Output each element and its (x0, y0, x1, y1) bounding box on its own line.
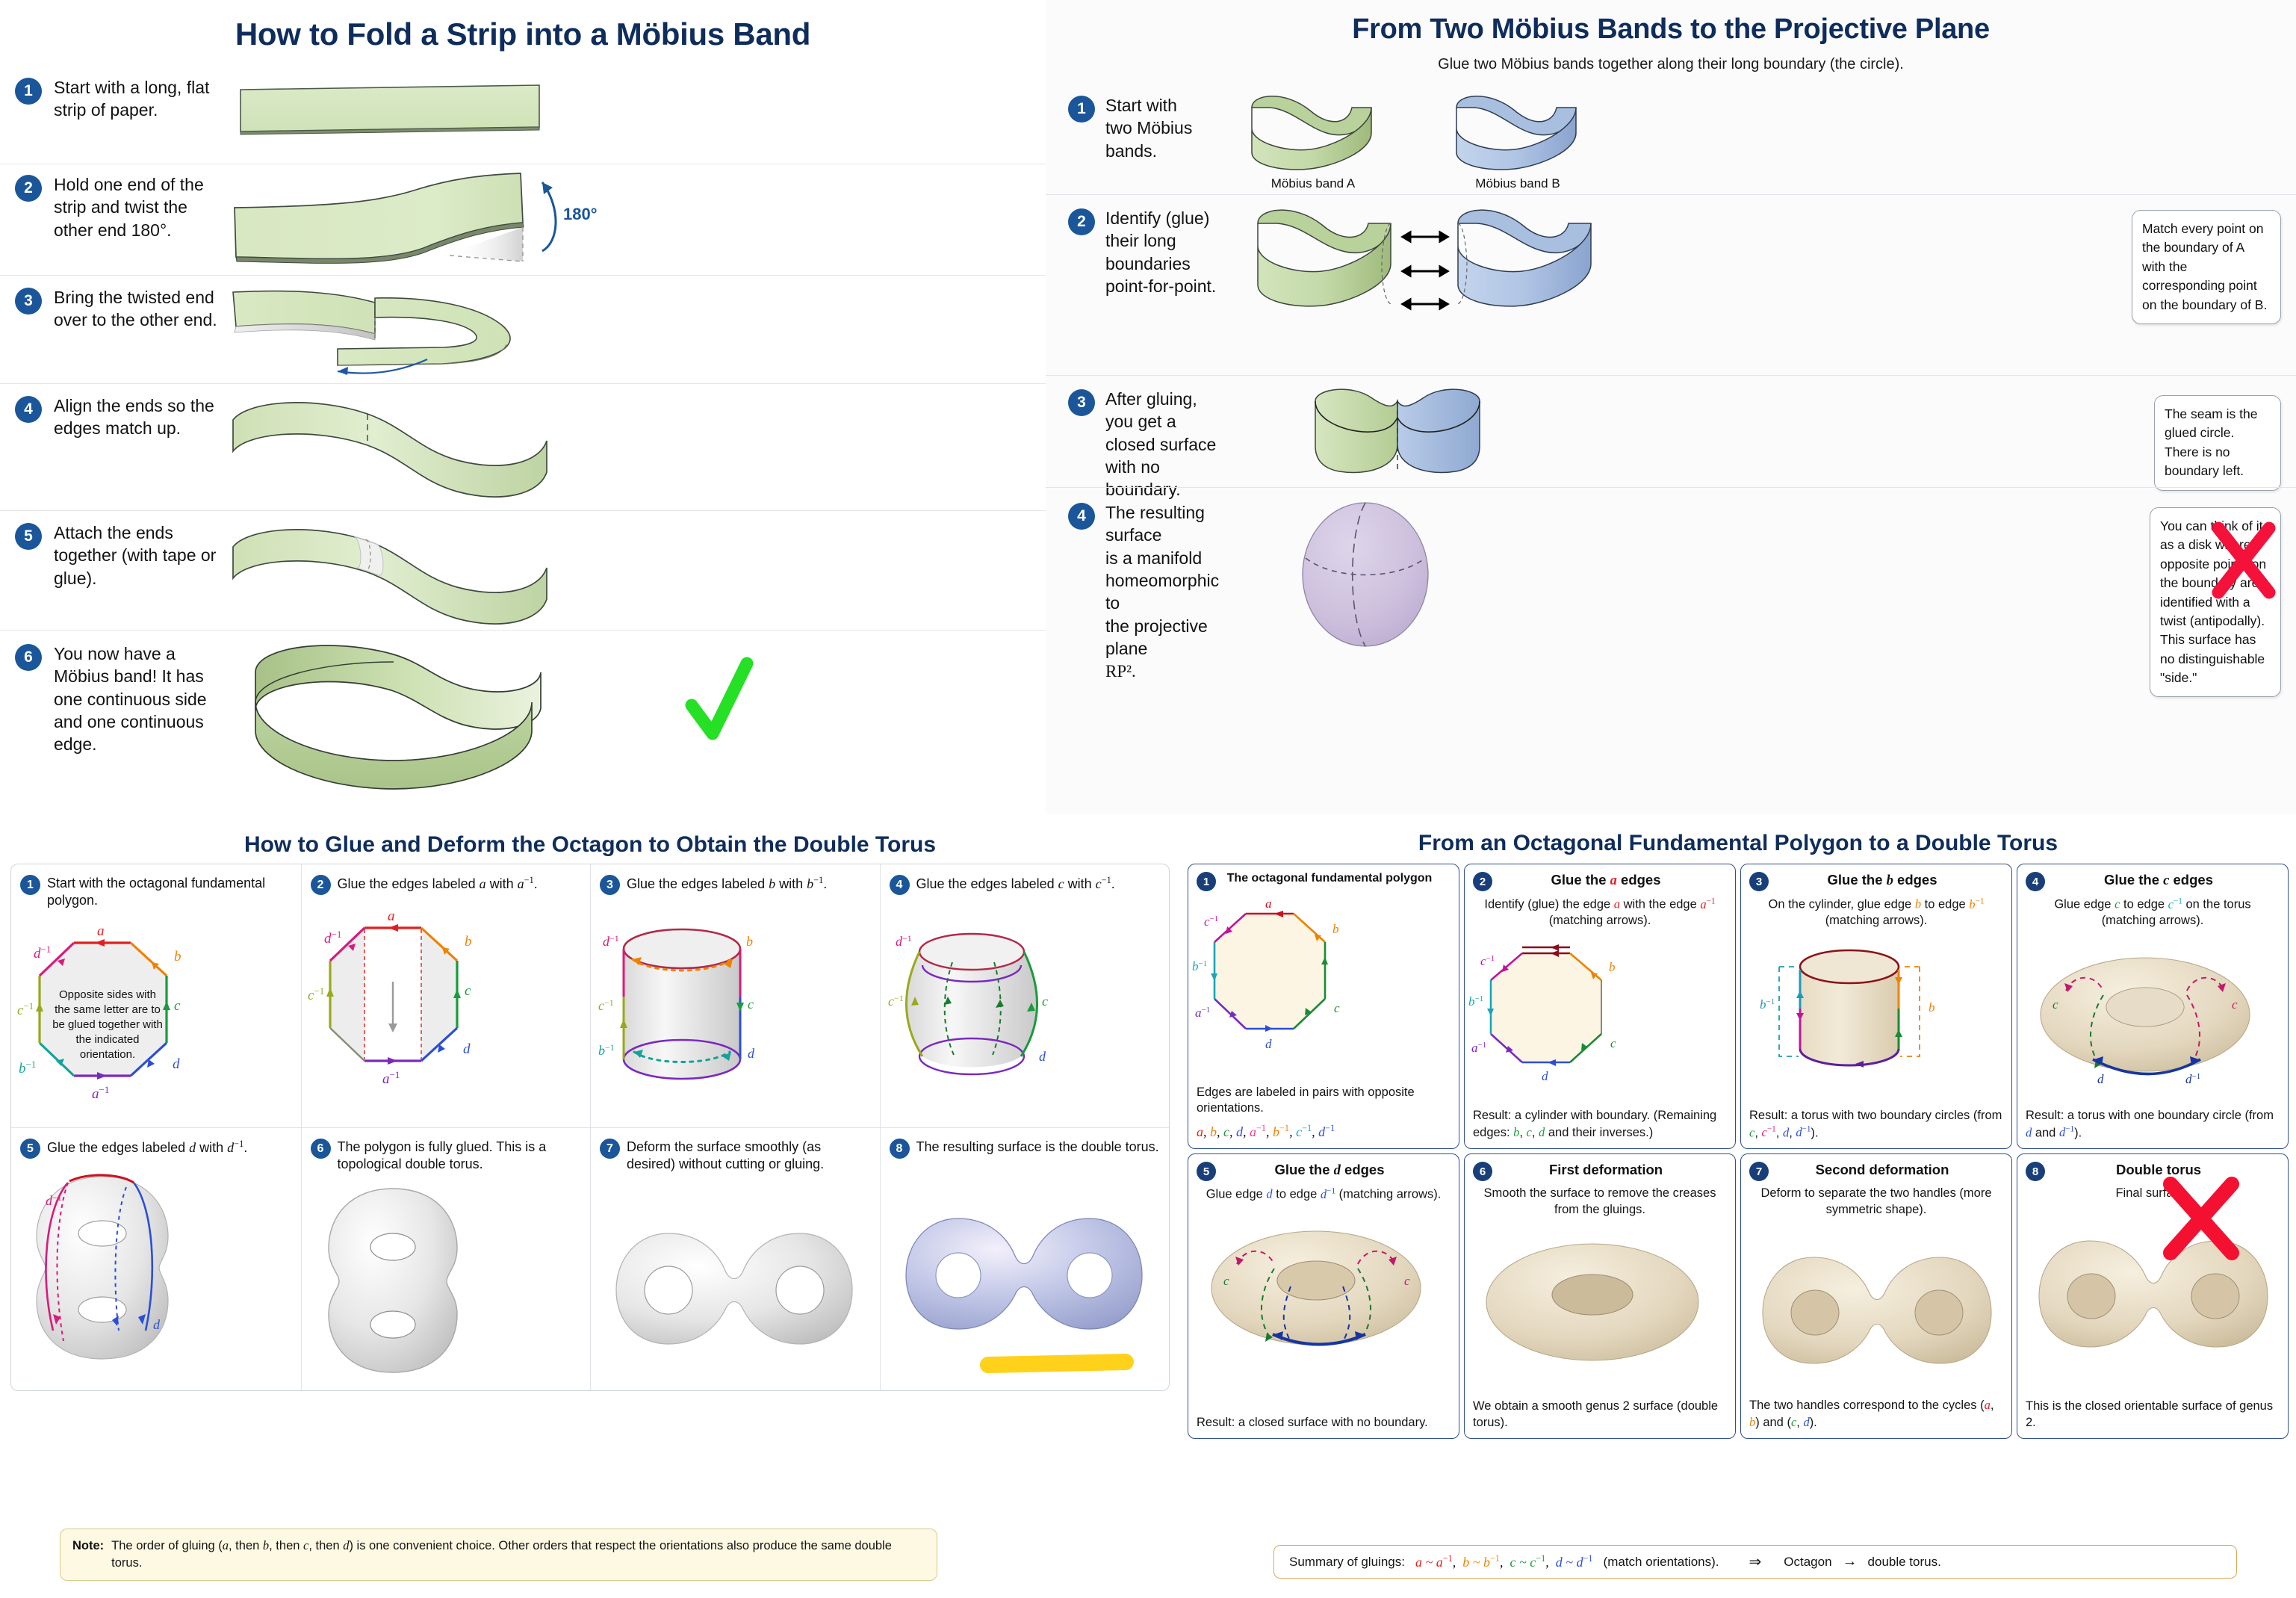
svg-text:c: c (465, 983, 471, 999)
svg-text:b: b (174, 949, 181, 964)
figure-identify-boundaries (1244, 207, 2118, 356)
step-text: Glue the edges labeled b with b−1. (627, 875, 827, 893)
step-text-rp2: RP². (1105, 660, 1232, 683)
step-badge: 8 (890, 1139, 910, 1159)
octagon-inner-note: Opposite sides with the same letter are … (52, 988, 164, 1062)
card-footer: Result: a closed surface with no boundar… (1197, 1415, 1450, 1431)
figure-cylinder-b-arrows: b−1 b (1749, 932, 2003, 1105)
figure-aligned-ends (226, 394, 1031, 514)
svg-text:c−1: c−1 (598, 997, 614, 1013)
page-title-mobius-fold: How to Fold a Strip into a Möbius Band (0, 0, 1046, 52)
card-octagon-step-2: 2 Glue the edges labeled a with a−1. (301, 864, 591, 1127)
card-subtitle: Smooth the surface to remove the creases… (1473, 1186, 1727, 1218)
page-title-octagon-to-double-torus: From an Octagonal Fundamental Polygon to… (1180, 814, 2296, 856)
figure-horizontal-double-torus-grey (600, 1178, 871, 1383)
figure-glued-closed-surface (1303, 388, 2124, 485)
step-row: 5 Attach the ends together (with tape or… (0, 510, 1046, 630)
step-text: Attach the ends together (with tape or g… (54, 521, 226, 589)
figure-octagon-labeled: a b c d a−1 b−1 c−1 d−1 Opposite sides w… (20, 914, 292, 1119)
step-text: Glue the edges labeled d with d−1. (47, 1139, 247, 1156)
svg-text:b: b (1332, 922, 1339, 936)
step-badge: 3 (600, 875, 620, 895)
card-octagon-step-7: 7 Deform the surface smoothly (as desire… (590, 1127, 880, 1390)
card-oct-dt-3: 3 Glue the b edges On the cylinder, glue… (1740, 864, 2012, 1149)
step-badge: 7 (1749, 1162, 1769, 1181)
summary-arrow: → (1843, 1553, 1858, 1570)
svg-text:c: c (174, 998, 181, 1014)
step-badge: 1 (1197, 872, 1216, 891)
step-row: 2 Identify (glue) their long boundaries … (1046, 194, 2296, 375)
card-oct-dt-8: 8 Double torus Final surface. This is th… (2017, 1153, 2289, 1439)
step-row: 3 Bring the twisted end over to the othe… (0, 275, 1046, 383)
step-badge: 6 (311, 1139, 331, 1159)
card-footer: Result: a cylinder with boundary. (Remai… (1473, 1108, 1727, 1142)
card-title: Glue the a edges (1498, 872, 1727, 889)
svg-text:b−1: b−1 (1192, 959, 1207, 973)
step-text-line: The resulting surface (1105, 501, 1232, 547)
card-subtitle: On the cylinder, glue edge b to edge b−1… (1749, 896, 2003, 929)
svg-text:d−1: d−1 (2185, 1072, 2200, 1086)
summary-to: double torus. (1868, 1555, 1941, 1570)
summary-relations: a ~ a−1, b ~ b−1, c ~ c−1, d ~ d−1 (1415, 1553, 1593, 1570)
svg-text:c−1: c−1 (308, 985, 324, 1003)
svg-text:d: d (2097, 1072, 2104, 1086)
svg-text:b: b (746, 934, 753, 949)
step-badge: 5 (20, 1139, 40, 1159)
card-oct-dt-6: 6 First deformation Smooth the surface t… (1464, 1153, 1736, 1439)
band-b-label: Möbius band B (1443, 176, 1592, 192)
step-text: Glue the edges labeled c with c−1. (916, 875, 1115, 893)
card-oct-dt-2: 2 Glue the a edges Identify (glue) the e… (1464, 864, 1736, 1149)
step-text: Hold one end of the strip and twist the … (54, 173, 226, 241)
panel-octagon-to-double-torus: From an Octagonal Fundamental Polygon to… (1180, 814, 2296, 1598)
svg-text:b: b (1929, 1000, 1935, 1015)
svg-text:b−1: b−1 (598, 1042, 615, 1058)
card-octagon-step-3: 3 Glue the edges labeled b with b−1. (590, 864, 880, 1127)
step-badge: 7 (600, 1139, 620, 1159)
card-octagon-step-5: 5 Glue the edges labeled d with d−1. (11, 1127, 301, 1390)
step-badge: 3 (1068, 389, 1095, 416)
step-badge: 1 (1068, 96, 1095, 123)
summary-paren: (match orientations). (1604, 1555, 1719, 1570)
svg-text:c: c (748, 997, 754, 1012)
page-title-octagon-glue: How to Glue and Deform the Octagon to Ob… (0, 814, 1180, 858)
step-text-line: is a manifold (1105, 547, 1232, 569)
step-row: 1 Start with a long, flat strip of paper… (0, 66, 1046, 164)
figure-vertical-double-torus: d−1 d (20, 1163, 292, 1368)
step-row: 1 Start with two Möbius bands. Möbius ba… (1046, 85, 2296, 194)
callout-match-points: Match every point on the boundary of A w… (2132, 210, 2281, 324)
svg-text:c: c (2053, 997, 2058, 1012)
figure-bring-end-over (226, 286, 1031, 387)
svg-text:c: c (1042, 994, 1048, 1009)
svg-text:c−1: c−1 (1480, 954, 1495, 968)
card-oct-dt-7: 7 Second deformation Deform to separate … (1740, 1153, 2012, 1439)
step-badge: 4 (1068, 503, 1095, 530)
card-octagon-step-1: 1 Start with the octagonal fundamental p… (11, 864, 301, 1127)
figure-octagon-glue-a-arrows: b c d a−1 b−1 c−1 (1473, 932, 1727, 1105)
step-row: 4 The resulting surface is a manifold ho… (1046, 487, 2296, 666)
card-subtitle: Deform to separate the two handles (more… (1749, 1186, 2003, 1218)
svg-text:d: d (748, 1046, 755, 1061)
figure-projective-plane-surface (1277, 501, 2144, 651)
figure-torus-d-arrows: c c (1197, 1206, 1450, 1412)
svg-text:a: a (1265, 896, 1272, 911)
step-badge: 1 (20, 875, 40, 895)
svg-text:a−1: a−1 (1471, 1041, 1486, 1055)
svg-text:b: b (1609, 960, 1616, 974)
note-label: Note: (72, 1537, 104, 1572)
panel-octagon-glue: How to Glue and Deform the Octagon to Ob… (0, 814, 1180, 1598)
step-text: The resulting surface is the double toru… (916, 1139, 1159, 1156)
svg-text:b−1: b−1 (1468, 994, 1483, 1009)
figure-smooth-torus (1473, 1221, 1727, 1396)
step-text: After gluing, you get a closed surface w… (1105, 388, 1229, 501)
step-text: Start with the octagonal fundamental pol… (47, 875, 292, 910)
svg-text:d: d (173, 1056, 180, 1072)
figure-twisting-strip: 180° (226, 173, 1031, 278)
figure-octagon-glue-a: a b c d a−1 c−1 d−1 (311, 899, 582, 1104)
svg-text:a−1: a−1 (382, 1069, 400, 1087)
card-footer: We obtain a smooth genus 2 surface (doub… (1473, 1399, 1727, 1431)
svg-text:c: c (1223, 1274, 1229, 1288)
svg-text:d: d (153, 1317, 161, 1332)
svg-text:a: a (388, 908, 395, 924)
svg-text:c−1: c−1 (888, 993, 904, 1009)
step-text: Deform the surface smoothly (as desired)… (627, 1139, 871, 1174)
card-subtitle: Glue edge d to edge d−1 (matching arrows… (1197, 1186, 1450, 1203)
card-footer: The two handles correspond to the cycles… (1749, 1397, 2003, 1431)
card-octagon-step-6: 6 The polygon is fully glued. This is a … (301, 1127, 591, 1390)
note-text: The order of gluing (a, then b, then c, … (111, 1537, 925, 1572)
svg-text:a−1: a−1 (1195, 1006, 1210, 1020)
twist-angle-label: 180° (563, 205, 598, 223)
step-badge: 4 (2026, 872, 2045, 891)
figure-torus-c-arrows: c c d d−1 (2026, 932, 2280, 1105)
step-text: Identify (glue) their long boundaries po… (1105, 207, 1225, 297)
figure-double-torus-tan-1 (1749, 1221, 2003, 1395)
svg-text:b−1: b−1 (19, 1059, 36, 1077)
card-title: Glue the b edges (1775, 872, 2003, 889)
card-footer-letters: a, b, c, d, a−1, b−1, c−1, d−1 (1197, 1122, 1450, 1142)
panel-mobius-fold: How to Fold a Strip into a Möbius Band 1… (0, 0, 1046, 814)
svg-text:d: d (1542, 1069, 1548, 1083)
card-oct-dt-1: 1 The octagonal fundamental polygon (1188, 864, 1459, 1149)
summary-bar: Summary of gluings: a ~ a−1, b ~ b−1, c … (1273, 1545, 2237, 1579)
step-badge: 8 (2026, 1162, 2045, 1181)
step-badge: 1 (15, 78, 42, 105)
svg-text:c−1: c−1 (1204, 914, 1218, 929)
step-badge: 4 (890, 875, 910, 895)
summary-implies: ⇒ (1749, 1552, 1762, 1571)
svg-text:a: a (97, 923, 105, 939)
page-title-projective-plane: From Two Möbius Bands to the Projective … (1046, 0, 2296, 46)
figure-cylinder-after-b: d−1 c−1 b−1 b c d (600, 899, 871, 1104)
figure-mobius-band-finished (233, 642, 1031, 777)
summary-from: Octagon (1784, 1555, 1831, 1570)
card-octagon-step-8: 8 The resulting surface is the double to… (880, 1127, 1170, 1390)
step-row: 4 Align the ends so the edges match up. (0, 383, 1046, 510)
card-subtitle: Identify (glue) the edge a with the edge… (1473, 896, 1727, 929)
figure-octagon-fundamental: a b c d a−1 b−1 c−1 (1197, 894, 1450, 1082)
svg-text:b: b (465, 934, 472, 950)
step-text: Bring the twisted end over to the other … (54, 286, 226, 332)
card-title: Glue the c edges (2051, 872, 2280, 889)
card-footer: Result: a torus with one boundary circle… (2026, 1108, 2280, 1142)
step-row: 6 You now have a Möbius band! It has one… (0, 630, 1046, 772)
figure-flat-strip (226, 76, 1031, 158)
step-text: Start with two Möbius bands. (1105, 94, 1195, 162)
svg-text:d−1: d−1 (603, 933, 619, 949)
card-title: Second deformation (1775, 1162, 2003, 1178)
figure-mobius-band-b: Möbius band B (1443, 94, 1592, 192)
figure-mobius-band-a: Möbius band A (1238, 94, 1388, 192)
step-badge: 2 (1473, 872, 1492, 891)
green-check-mark (681, 656, 756, 753)
note-box: Note: The order of gluing (a, then b, th… (60, 1529, 937, 1581)
step-text-line: homeomorphic to (1105, 569, 1232, 615)
svg-text:d: d (1265, 1037, 1272, 1051)
svg-text:d−1: d−1 (896, 933, 912, 949)
step-text: Align the ends so the edges match up. (54, 394, 226, 440)
step-badge: 3 (15, 288, 42, 315)
figure-glued-double-torus-vertical (311, 1178, 582, 1383)
step-text: The resulting surface is a manifold home… (1105, 501, 1232, 683)
step-badge: 5 (15, 523, 42, 550)
svg-text:a−1: a−1 (92, 1084, 109, 1102)
step-badge: 6 (1473, 1162, 1492, 1181)
card-subtitle: Glue edge c to edge c−1 on the torus (ma… (2026, 896, 2280, 929)
step-badge: 6 (15, 644, 42, 671)
callout-seam: The seam is the glued circle. There is n… (2154, 395, 2281, 491)
svg-text:d: d (463, 1041, 471, 1057)
panel-subtitle: Glue two Möbius bands together along the… (1046, 46, 2296, 73)
callout-disk-antipodal: You can think of it as a disk where oppo… (2150, 507, 2281, 697)
card-footer: This is the closed orientable surface of… (2026, 1399, 2280, 1431)
figure-taped-ends (226, 521, 1031, 634)
svg-text:c: c (1334, 1001, 1340, 1015)
svg-text:c: c (2232, 997, 2238, 1012)
step-badge: 5 (1197, 1162, 1216, 1181)
figure-double-torus-tan-2 (2026, 1205, 2280, 1396)
step-text: The polygon is fully glued. This is a to… (338, 1139, 582, 1174)
svg-text:d: d (1039, 1049, 1046, 1064)
card-title: First deformation (1498, 1162, 1727, 1178)
card-oct-dt-4: 4 Glue the c edges Glue edge c to edge c… (2017, 864, 2289, 1149)
step-text: Glue the edges labeled a with a−1. (338, 875, 538, 893)
step-badge: 3 (1749, 872, 1769, 891)
step-text: You now have a Möbius band! It has one c… (54, 642, 233, 756)
card-footer: Result: a torus with two boundary circle… (1749, 1108, 2003, 1142)
summary-label: Summary of gluings: (1289, 1555, 1405, 1570)
card-footer: Edges are labeled in pairs with opposite… (1197, 1085, 1450, 1118)
card-octagon-step-4: 4 Glue the edges labeled c with c−1. (880, 864, 1170, 1127)
card-subtitle: Final surface. (2026, 1186, 2280, 1202)
card-title: The octagonal fundamental polygon (1222, 872, 1450, 885)
step-row: 2 Hold one end of the strip and twist th… (0, 164, 1046, 275)
step-text: Start with a long, flat strip of paper. (54, 76, 226, 122)
svg-text:d−1: d−1 (324, 929, 341, 947)
step-badge: 2 (15, 175, 42, 202)
figure-barrel-after-c: d−1 c−1 c d (890, 899, 1161, 1104)
step-badge: 2 (1068, 208, 1095, 235)
step-badge: 2 (311, 875, 331, 895)
step-badge: 4 (15, 396, 42, 423)
svg-text:d−1: d−1 (34, 944, 51, 961)
band-a-label: Möbius band A (1238, 176, 1388, 192)
panel-projective-plane: From Two Möbius Bands to the Projective … (1046, 0, 2296, 814)
svg-text:c: c (1610, 1036, 1616, 1050)
card-title: Double torus (2051, 1162, 2280, 1178)
svg-text:c: c (1404, 1274, 1410, 1288)
svg-text:c−1: c−1 (17, 1000, 34, 1018)
card-title: Glue the d edges (1222, 1162, 1450, 1179)
figure-horizontal-double-torus-blue (890, 1163, 1161, 1368)
step-text-line: the projective plane (1105, 615, 1232, 660)
svg-text:b−1: b−1 (1760, 997, 1775, 1012)
card-oct-dt-5: 5 Glue the d edges Glue edge d to edge d… (1188, 1153, 1459, 1439)
step-row: 3 After gluing, you get a closed surface… (1046, 375, 2296, 487)
